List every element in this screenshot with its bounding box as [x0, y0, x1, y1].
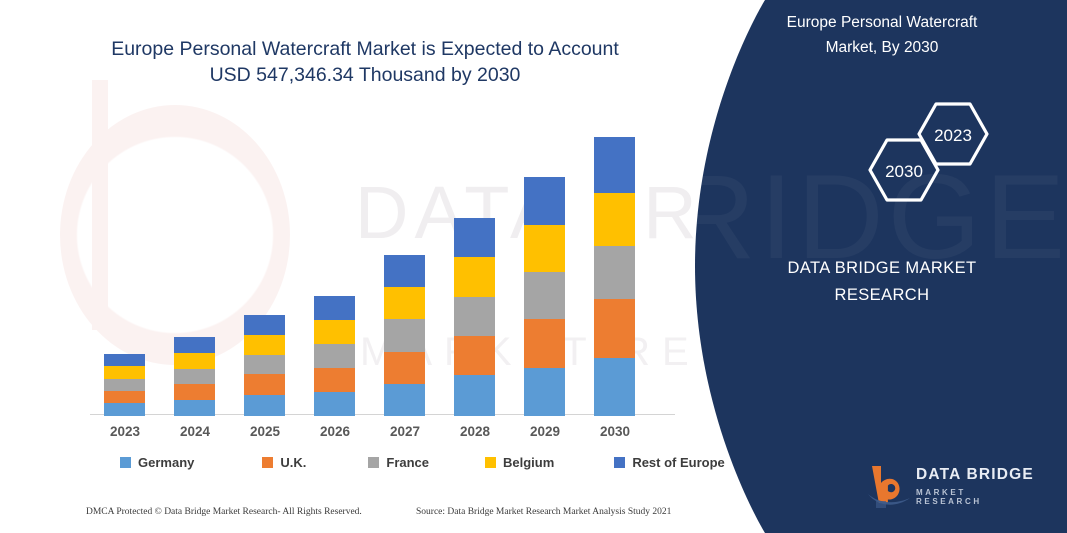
bar-segment-belgium[interactable] [244, 335, 285, 355]
right-side-panel: RIDGE Europe Personal Watercraft Market,… [687, 0, 1067, 533]
bar-segment-u-k[interactable] [524, 319, 565, 368]
chart-legend: GermanyU.K.FranceBelgiumRest of Europe [120, 455, 725, 470]
bar-segment-germany[interactable] [594, 358, 635, 416]
bar-2026[interactable] [314, 296, 355, 416]
bar-segment-u-k[interactable] [104, 391, 145, 403]
bar-segment-rest-of-europe[interactable] [314, 296, 355, 320]
bar-segment-germany[interactable] [384, 384, 425, 416]
bar-segment-rest-of-europe[interactable] [244, 315, 285, 335]
x-axis-label-2027: 2027 [370, 424, 440, 439]
page-title-line-1: Europe Personal Watercraft Market is Exp… [60, 36, 670, 62]
footer-copyright: DMCA Protected © Data Bridge Market Rese… [86, 507, 416, 517]
legend-swatch-icon [485, 457, 496, 468]
bar-segment-belgium[interactable] [524, 225, 565, 272]
bar-segment-germany[interactable] [104, 403, 145, 416]
legend-item-rest-of-europe[interactable]: Rest of Europe [614, 455, 724, 470]
bar-segment-france[interactable] [454, 297, 495, 336]
footer-source: Source: Data Bridge Market Research Mark… [416, 507, 671, 517]
page-title-line-2: USD 547,346.34 Thousand by 2030 [60, 62, 670, 88]
hexagon-2023-label: 2023 [934, 126, 972, 145]
legend-swatch-icon [614, 457, 625, 468]
bar-segment-rest-of-europe[interactable] [384, 255, 425, 287]
bar-segment-germany[interactable] [524, 368, 565, 416]
x-axis-label-2028: 2028 [440, 424, 510, 439]
legend-swatch-icon [262, 457, 273, 468]
bar-segment-belgium[interactable] [314, 320, 355, 344]
bar-segment-france[interactable] [104, 379, 145, 391]
bar-segment-u-k[interactable] [314, 368, 355, 392]
legend-item-germany[interactable]: Germany [120, 455, 194, 470]
infographic-page: DATA BRIDGE MARKET RESEARCH Europe Perso… [0, 0, 1067, 533]
x-axis-label-2023: 2023 [90, 424, 160, 439]
right-panel-brand: DATA BRIDGE MARKET RESEARCH [727, 255, 1037, 309]
bar-2028[interactable] [454, 218, 495, 416]
bar-segment-rest-of-europe[interactable] [524, 177, 565, 225]
bar-segment-germany[interactable] [454, 375, 495, 416]
bar-segment-u-k[interactable] [244, 374, 285, 395]
x-axis-label-2029: 2029 [510, 424, 580, 439]
legend-swatch-icon [120, 457, 131, 468]
legend-label: Rest of Europe [632, 455, 724, 470]
legend-label: Belgium [503, 455, 554, 470]
bar-segment-u-k[interactable] [384, 352, 425, 384]
bar-segment-belgium[interactable] [454, 257, 495, 297]
bar-2027[interactable] [384, 255, 425, 416]
bar-segment-rest-of-europe[interactable] [454, 218, 495, 257]
bar-segment-rest-of-europe[interactable] [594, 137, 635, 193]
legend-label: U.K. [280, 455, 306, 470]
x-axis-label-2030: 2030 [580, 424, 650, 439]
bridge-mark-icon [866, 462, 914, 508]
legend-label: Germany [138, 455, 194, 470]
x-axis-label-2026: 2026 [300, 424, 370, 439]
bar-segment-france[interactable] [174, 369, 215, 384]
page-title: Europe Personal Watercraft Market is Exp… [60, 36, 670, 88]
legend-swatch-icon [368, 457, 379, 468]
right-panel-brand-line-1: DATA BRIDGE MARKET [727, 255, 1037, 282]
bar-segment-france[interactable] [244, 355, 285, 374]
logo-name: DATA BRIDGE [916, 466, 1034, 484]
bar-segment-u-k[interactable] [174, 384, 215, 400]
legend-label: France [386, 455, 429, 470]
bar-segment-france[interactable] [524, 272, 565, 319]
bar-segment-rest-of-europe[interactable] [174, 337, 215, 353]
right-panel-brand-line-2: RESEARCH [727, 282, 1037, 309]
bar-2030[interactable] [594, 137, 635, 416]
hexagon-2030-label: 2030 [885, 162, 923, 181]
bar-segment-germany[interactable] [174, 400, 215, 416]
logo-tagline: MARKET RESEARCH [916, 488, 1036, 506]
bar-segment-belgium[interactable] [594, 193, 635, 246]
bar-segment-france[interactable] [314, 344, 355, 368]
legend-item-france[interactable]: France [368, 455, 429, 470]
x-axis-label-2024: 2024 [160, 424, 230, 439]
bar-2025[interactable] [244, 315, 285, 416]
bar-segment-belgium[interactable] [104, 366, 145, 379]
bar-segment-u-k[interactable] [454, 336, 495, 375]
bar-2024[interactable] [174, 337, 215, 416]
bar-segment-france[interactable] [594, 246, 635, 299]
bar-2029[interactable] [524, 177, 565, 416]
stacked-bar-chart [90, 120, 680, 416]
legend-item-u-k[interactable]: U.K. [262, 455, 306, 470]
bar-segment-germany[interactable] [314, 392, 355, 416]
bar-segment-rest-of-europe[interactable] [104, 354, 145, 366]
bar-segment-belgium[interactable] [384, 287, 425, 319]
legend-item-belgium[interactable]: Belgium [485, 455, 554, 470]
bar-segment-france[interactable] [384, 319, 425, 352]
bar-segment-germany[interactable] [244, 395, 285, 416]
footer: DMCA Protected © Data Bridge Market Rese… [86, 507, 686, 517]
bar-segment-belgium[interactable] [174, 353, 215, 369]
company-logo: DATA BRIDGE MARKET RESEARCH [866, 462, 1036, 510]
x-axis-label-2025: 2025 [230, 424, 300, 439]
bar-2023[interactable] [104, 354, 145, 416]
bar-segment-u-k[interactable] [594, 299, 635, 358]
